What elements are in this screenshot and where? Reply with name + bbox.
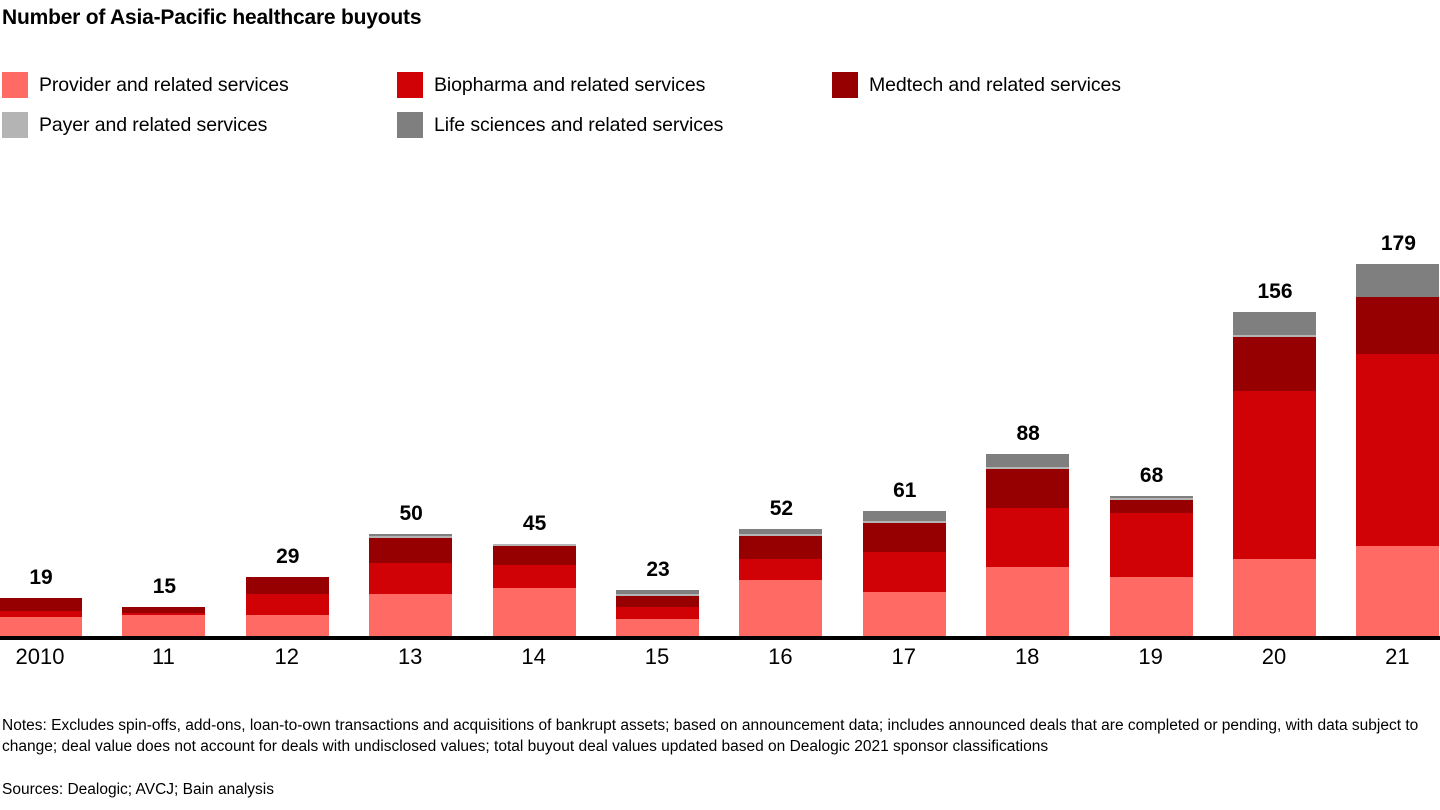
bar-total-label: 156 xyxy=(1215,280,1335,304)
x-axis-tick-label: 17 xyxy=(844,644,964,670)
bar-segment[interactable] xyxy=(863,592,946,638)
bar-segment[interactable] xyxy=(493,546,576,565)
bar-segment[interactable] xyxy=(1356,264,1439,297)
bar-total-label: 50 xyxy=(351,502,471,526)
bar-stack xyxy=(1110,496,1193,638)
bar-segment[interactable] xyxy=(986,508,1069,567)
legend-swatch-provider-icon xyxy=(2,72,28,98)
bar-segment[interactable] xyxy=(1356,354,1439,546)
bar-stack xyxy=(246,577,329,638)
bar-total-label: 52 xyxy=(721,497,841,521)
bar-segment[interactable] xyxy=(739,536,822,559)
bar-segment[interactable] xyxy=(986,567,1069,638)
bar-group[interactable]: 15 xyxy=(122,607,205,638)
bar-group[interactable]: 50 xyxy=(369,534,452,638)
bar-segment[interactable] xyxy=(1356,546,1439,638)
bar-segment[interactable] xyxy=(1356,297,1439,353)
plot-area: 19152950452352618868156179 xyxy=(0,130,1440,642)
bar-group[interactable]: 29 xyxy=(246,577,329,638)
bar-segment[interactable] xyxy=(986,454,1069,467)
bar-stack xyxy=(493,544,576,638)
x-axis-tick-label: 15 xyxy=(597,644,717,670)
x-axis-tick-label: 12 xyxy=(227,644,347,670)
bar-segment[interactable] xyxy=(493,588,576,638)
bar-stack xyxy=(986,454,1069,638)
bar-stack xyxy=(1233,312,1316,638)
bar-segment[interactable] xyxy=(246,577,329,594)
bar-segment[interactable] xyxy=(1110,577,1193,638)
legend-item-biopharma: Biopharma and related services xyxy=(397,72,705,98)
x-axis-tick-label: 13 xyxy=(350,644,470,670)
x-axis-tick-label: 11 xyxy=(103,644,223,670)
bar-segment[interactable] xyxy=(863,523,946,552)
bar-segment[interactable] xyxy=(1110,513,1193,578)
bar-total-label: 15 xyxy=(104,575,224,599)
bar-total-label: 68 xyxy=(1092,464,1212,488)
bar-stack xyxy=(369,534,452,638)
bar-total-label: 45 xyxy=(475,512,595,536)
bar-segment[interactable] xyxy=(616,607,699,620)
chart-notes: Notes: Excludes spin-offs, add-ons, loan… xyxy=(2,716,1436,757)
bar-segment[interactable] xyxy=(1233,559,1316,638)
legend-swatch-medtech-icon xyxy=(832,72,858,98)
bar-group[interactable]: 19 xyxy=(0,598,82,638)
bar-stack xyxy=(1356,264,1439,638)
x-axis-tick-label: 19 xyxy=(1091,644,1211,670)
bar-segment[interactable] xyxy=(739,559,822,580)
bar-total-label: 23 xyxy=(598,558,718,582)
bar-total-label: 61 xyxy=(845,479,965,503)
bar-segment[interactable] xyxy=(1233,391,1316,558)
bar-segment[interactable] xyxy=(0,617,82,638)
bar-group[interactable]: 45 xyxy=(493,544,576,638)
x-axis-labels: 20101112131415161718192021 xyxy=(0,644,1440,678)
x-axis-tick-label: 21 xyxy=(1337,644,1440,670)
x-axis-tick-label: 14 xyxy=(474,644,594,670)
bar-segment[interactable] xyxy=(1110,500,1193,513)
legend-swatch-biopharma-icon xyxy=(397,72,423,98)
bar-group[interactable]: 179 xyxy=(1356,264,1439,638)
legend-item-provider: Provider and related services xyxy=(2,72,289,98)
bar-segment[interactable] xyxy=(493,565,576,588)
bar-group[interactable]: 61 xyxy=(863,511,946,638)
page-title: Number of Asia-Pacific healthcare buyout… xyxy=(2,6,421,30)
bar-segment[interactable] xyxy=(986,469,1069,509)
x-axis-tick-label: 18 xyxy=(967,644,1087,670)
legend-label-provider: Provider and related services xyxy=(39,75,289,95)
bar-stack xyxy=(863,511,946,638)
x-axis-tick-label: 2010 xyxy=(0,644,100,670)
legend-label-biopharma: Biopharma and related services xyxy=(434,75,705,95)
legend-label-medtech: Medtech and related services xyxy=(869,75,1121,95)
bar-segment[interactable] xyxy=(1233,337,1316,391)
bar-group[interactable]: 156 xyxy=(1233,312,1316,638)
bar-segment[interactable] xyxy=(369,594,452,638)
bar-group[interactable]: 88 xyxy=(986,454,1069,638)
bar-group[interactable]: 52 xyxy=(739,529,822,638)
bar-segment[interactable] xyxy=(246,615,329,638)
bar-segment[interactable] xyxy=(863,552,946,592)
legend-item-medtech: Medtech and related services xyxy=(832,72,1121,98)
bar-stack xyxy=(122,607,205,638)
bar-segment[interactable] xyxy=(122,615,205,638)
bar-segment[interactable] xyxy=(739,580,822,639)
x-axis-tick-label: 16 xyxy=(720,644,840,670)
x-axis-tick-label: 20 xyxy=(1214,644,1334,670)
bar-segment[interactable] xyxy=(616,596,699,606)
chart-page: Number of Asia-Pacific healthcare buyout… xyxy=(0,0,1440,810)
chart-sources: Sources: Dealogic; AVCJ; Bain analysis xyxy=(2,780,274,800)
bar-stack xyxy=(0,598,82,638)
bar-group[interactable]: 23 xyxy=(616,590,699,638)
bar-stack xyxy=(616,590,699,638)
bar-segment[interactable] xyxy=(369,538,452,563)
bar-total-label: 179 xyxy=(1338,232,1440,256)
bar-total-label: 19 xyxy=(0,566,101,590)
bar-segment[interactable] xyxy=(0,598,82,611)
bar-segment[interactable] xyxy=(369,563,452,594)
bar-segment[interactable] xyxy=(246,594,329,615)
x-axis-line xyxy=(0,636,1440,640)
bar-total-label: 29 xyxy=(228,545,348,569)
bar-segment[interactable] xyxy=(863,511,946,521)
bar-stack xyxy=(739,529,822,638)
bar-segment[interactable] xyxy=(1233,312,1316,335)
bar-total-label: 88 xyxy=(968,422,1088,446)
bar-group[interactable]: 68 xyxy=(1110,496,1193,638)
